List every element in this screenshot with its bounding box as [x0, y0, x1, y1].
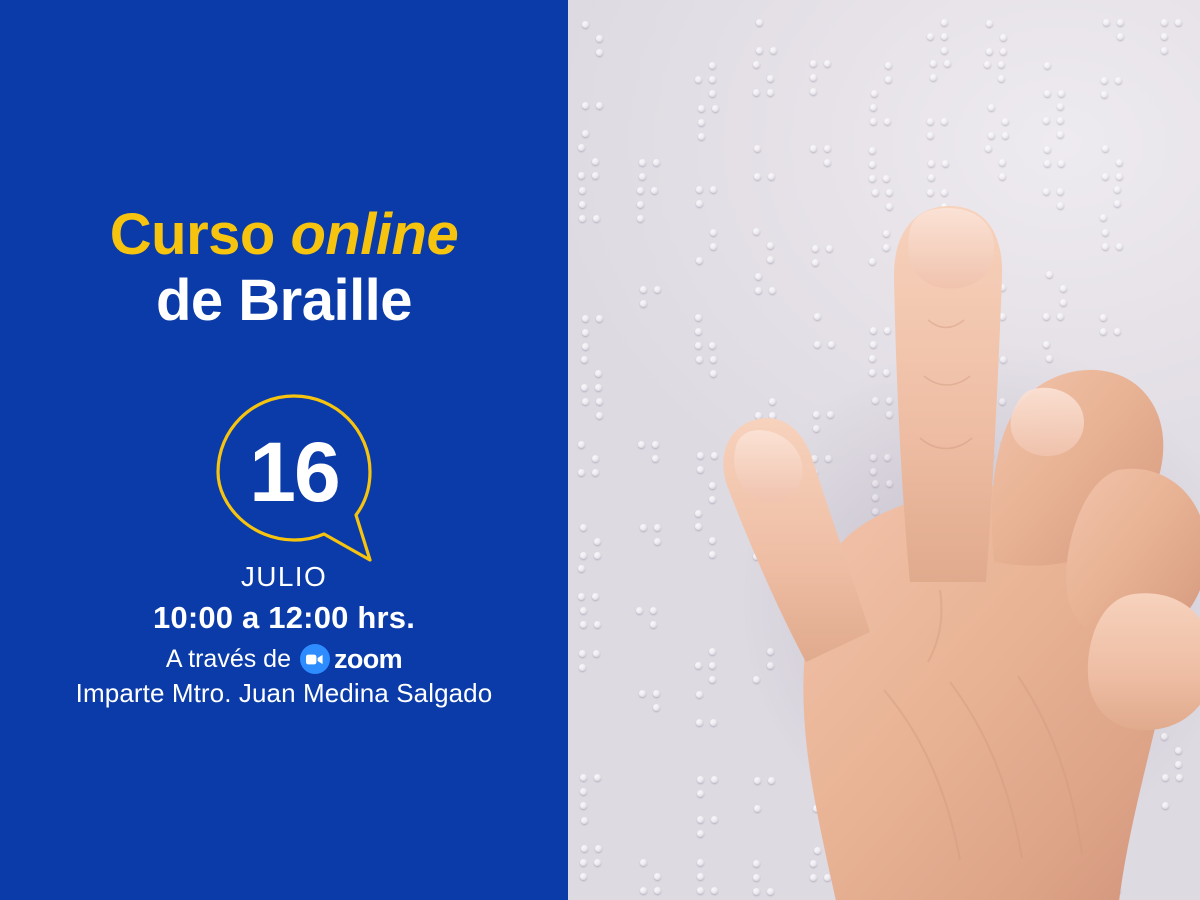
poster-canvas: COORDINACIÓN DE RESPONSABILIDAD SOCIAL U… — [0, 0, 1200, 900]
page-title: Curso online de Braille — [0, 204, 568, 334]
braille-photo: COORDINACIÓN DE RESPONSABILIDAD SOCIAL U… — [568, 0, 1200, 900]
event-platform: A través de zoom — [0, 644, 568, 675]
zoom-wordmark: zoom — [334, 644, 402, 675]
zoom-camera-icon — [300, 644, 330, 674]
presenter-line: Imparte Mtro. Juan Medina Salgado — [0, 678, 568, 709]
platform-prefix: A través de — [166, 645, 291, 674]
event-hours: 10:00 a 12:00 hrs. — [0, 600, 568, 636]
event-day: 16 — [214, 392, 374, 552]
date-bubble: 16 — [0, 392, 568, 572]
event-month: JULIO — [0, 560, 568, 594]
title-word-curso: Curso — [110, 202, 275, 267]
blue-panel: Curso online de Braille 16 JULIO 10:00 a… — [0, 0, 568, 900]
zoom-logo: zoom — [300, 644, 402, 675]
title-line-2: de Braille — [0, 269, 568, 334]
title-word-online: online — [290, 202, 458, 267]
title-line-1: Curso online — [0, 204, 568, 265]
event-meta: JULIO 10:00 a 12:00 hrs. A través de zoo… — [0, 560, 568, 675]
braille-dot-field — [568, 0, 1200, 900]
